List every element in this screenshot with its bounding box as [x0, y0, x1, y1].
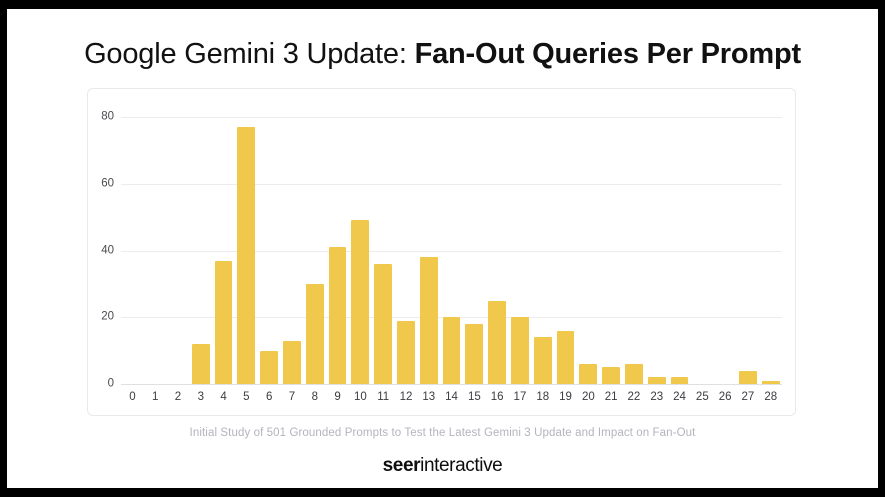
x-tick-label: 7: [281, 388, 304, 406]
title-bold-part: Fan-Out Queries Per Prompt: [415, 38, 801, 70]
bar-slot: [577, 107, 600, 384]
bar[interactable]: [557, 331, 575, 384]
title-regular-part: Google Gemini 3 Update:: [84, 38, 415, 70]
y-tick-label: 20: [101, 312, 114, 324]
bar[interactable]: [511, 317, 529, 384]
bar-slot: [303, 107, 326, 384]
bar-slot: [372, 107, 395, 384]
x-tick-label: 0: [121, 388, 144, 406]
bar[interactable]: [420, 257, 438, 384]
x-tick-label: 3: [189, 388, 212, 406]
x-tick-label: 8: [303, 388, 326, 406]
bar-slot: [440, 107, 463, 384]
bar[interactable]: [648, 377, 666, 384]
bar-slot: [189, 107, 212, 384]
bar-slot: [258, 107, 281, 384]
x-tick-label: 21: [600, 388, 623, 406]
y-tick-label: 0: [108, 378, 114, 390]
x-tick-label: 15: [463, 388, 486, 406]
y-tick-label: 80: [101, 111, 114, 123]
bar-slot: [691, 107, 714, 384]
bar[interactable]: [374, 264, 392, 384]
bar-slot: [121, 107, 144, 384]
plot-inner: 020406080: [121, 107, 782, 384]
bar-slot: [600, 107, 623, 384]
bar[interactable]: [397, 321, 415, 384]
page-title: Google Gemini 3 Update: Fan-Out Queries …: [7, 36, 878, 72]
slide-frame: Google Gemini 3 Update: Fan-Out Queries …: [0, 0, 885, 497]
brand-logo-regular-part: interactive: [420, 455, 502, 476]
bar[interactable]: [762, 381, 780, 384]
bar-slot: [144, 107, 167, 384]
y-tick-label: 60: [101, 178, 114, 190]
x-tick-label: 28: [759, 388, 782, 406]
x-tick-label: 17: [509, 388, 532, 406]
x-tick-label: 19: [554, 388, 577, 406]
bar[interactable]: [283, 341, 301, 384]
bar[interactable]: [488, 301, 506, 384]
slide-canvas: Google Gemini 3 Update: Fan-Out Queries …: [7, 9, 878, 488]
bar-slot: [645, 107, 668, 384]
x-tick-label: 24: [668, 388, 691, 406]
bar-slot: [395, 107, 418, 384]
bar-slot: [349, 107, 372, 384]
bar[interactable]: [237, 127, 255, 384]
bar-slot: [463, 107, 486, 384]
x-tick-label: 23: [645, 388, 668, 406]
x-tick-label: 22: [623, 388, 646, 406]
x-tick-label: 16: [486, 388, 509, 406]
gridline-0: 0: [121, 384, 782, 385]
plot-area: 020406080: [121, 107, 782, 384]
bar[interactable]: [625, 364, 643, 384]
bar-slot: [281, 107, 304, 384]
bar-slot: [759, 107, 782, 384]
bar-slot: [167, 107, 190, 384]
bar-slot: [235, 107, 258, 384]
bar-slot: [212, 107, 235, 384]
bar-slot: [737, 107, 760, 384]
brand-logo: seerinteractive: [7, 455, 878, 477]
bar-slot: [326, 107, 349, 384]
brand-logo-bold-part: seer: [383, 455, 421, 476]
x-axis-labels: 0123456789101112131415161718192021222324…: [121, 388, 782, 406]
x-tick-label: 9: [326, 388, 349, 406]
x-tick-label: 10: [349, 388, 372, 406]
bar[interactable]: [443, 317, 461, 384]
bar[interactable]: [739, 371, 757, 384]
x-tick-label: 6: [258, 388, 281, 406]
bar-slot: [623, 107, 646, 384]
bar-slot: [554, 107, 577, 384]
x-tick-label: 11: [372, 388, 395, 406]
y-tick-label: 40: [101, 245, 114, 257]
bar[interactable]: [579, 364, 597, 384]
bars-container: [121, 107, 782, 384]
chart-caption: Initial Study of 501 Grounded Prompts to…: [7, 427, 878, 439]
x-tick-label: 1: [144, 388, 167, 406]
x-tick-label: 4: [212, 388, 235, 406]
bar[interactable]: [192, 344, 210, 384]
x-tick-label: 2: [167, 388, 190, 406]
bar[interactable]: [215, 261, 233, 384]
bar[interactable]: [260, 351, 278, 384]
x-tick-label: 27: [737, 388, 760, 406]
chart-card: 020406080 012345678910111213141516171819…: [87, 88, 796, 416]
x-tick-label: 26: [714, 388, 737, 406]
x-tick-label: 20: [577, 388, 600, 406]
x-tick-label: 14: [440, 388, 463, 406]
bar[interactable]: [329, 247, 347, 384]
bar-slot: [486, 107, 509, 384]
bar[interactable]: [534, 337, 552, 384]
bar[interactable]: [602, 367, 620, 384]
bar[interactable]: [306, 284, 324, 384]
x-tick-label: 18: [531, 388, 554, 406]
bar[interactable]: [351, 220, 369, 384]
x-tick-label: 13: [417, 388, 440, 406]
x-tick-label: 12: [395, 388, 418, 406]
bar-slot: [668, 107, 691, 384]
bar[interactable]: [671, 377, 689, 384]
bar-slot: [714, 107, 737, 384]
bar-slot: [417, 107, 440, 384]
bar-slot: [531, 107, 554, 384]
bar[interactable]: [465, 324, 483, 384]
x-tick-label: 25: [691, 388, 714, 406]
x-tick-label: 5: [235, 388, 258, 406]
bar-slot: [509, 107, 532, 384]
